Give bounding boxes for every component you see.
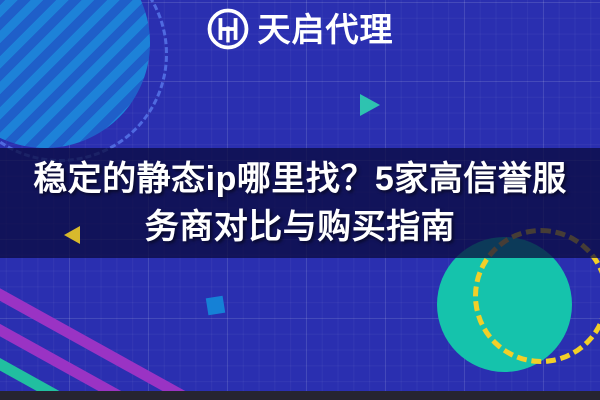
teal-play-triangle <box>360 94 380 116</box>
tianqi-circle-h-logo-icon <box>207 8 249 50</box>
promo-banner: 天启代理 稳定的静态ip哪里找？5家高信誉服 务商对比与购买指南 <box>0 0 600 400</box>
blue-square <box>206 296 225 315</box>
page-title: 稳定的静态ip哪里找？5家高信誉服 务商对比与购买指南 <box>0 155 600 251</box>
brand-name: 天启代理 <box>258 13 394 46</box>
bottom-bar <box>0 391 600 400</box>
page-title-line-1: 稳定的静态ip哪里找？5家高信誉服 <box>16 155 584 203</box>
brand-logo: 天启代理 <box>0 8 600 50</box>
page-title-line-2: 务商对比与购买指南 <box>16 203 584 251</box>
